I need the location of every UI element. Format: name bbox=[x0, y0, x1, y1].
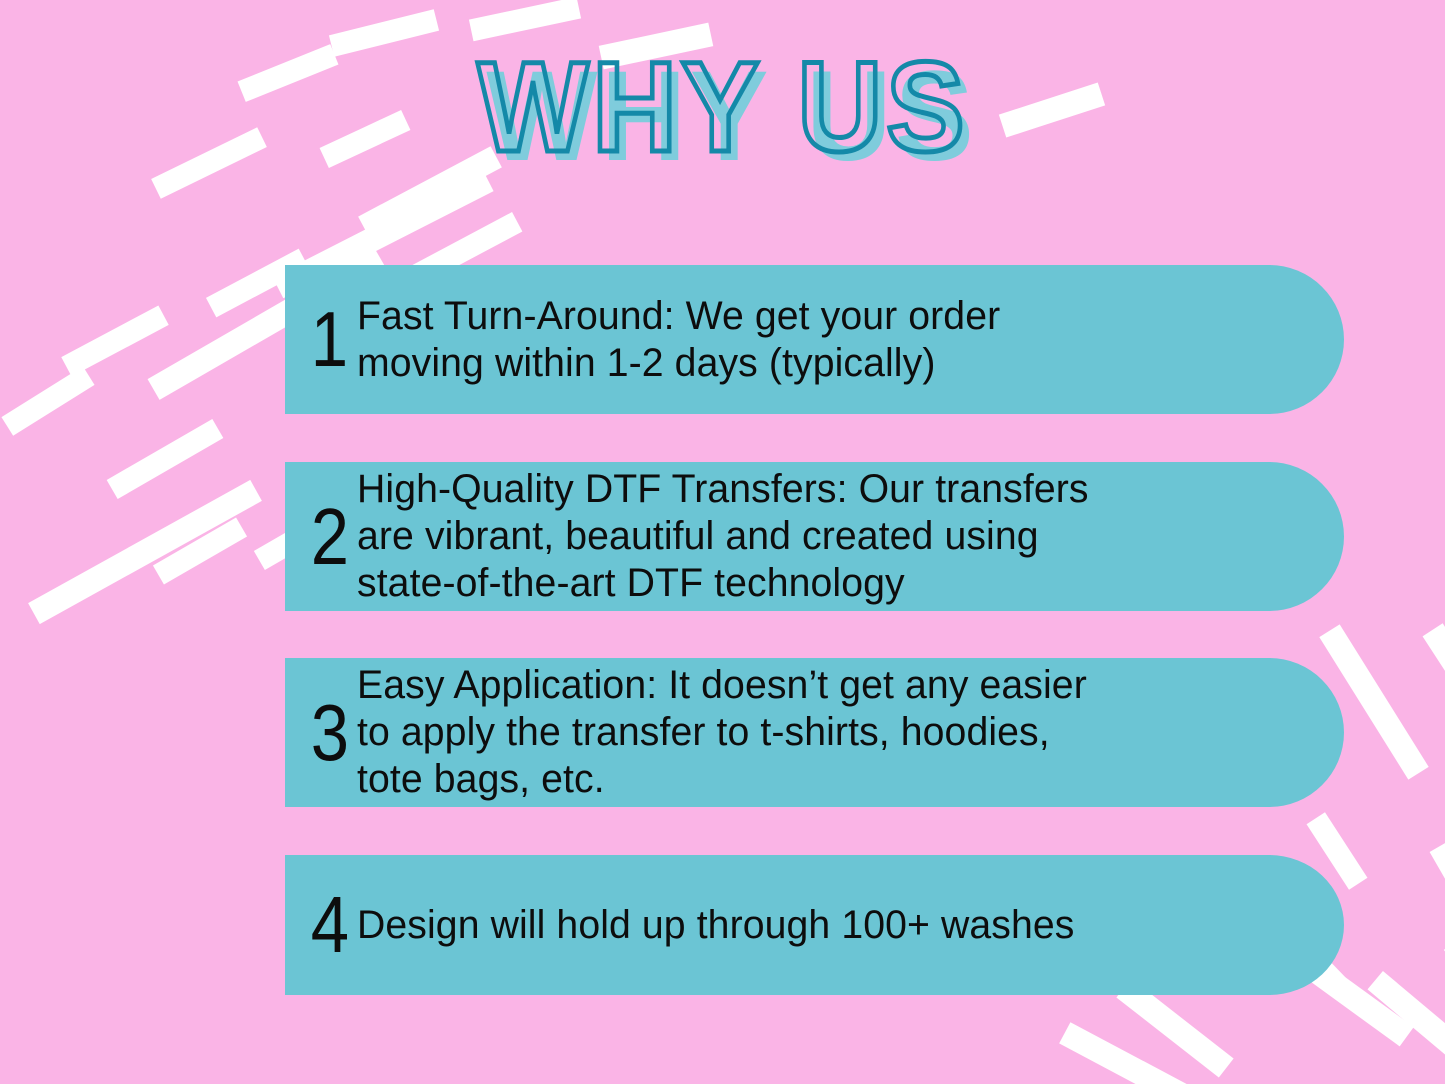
benefit-item-rounded-cap bbox=[1194, 462, 1344, 611]
page-title: WHY US bbox=[477, 44, 968, 172]
benefit-item-rounded-cap bbox=[1194, 265, 1344, 414]
benefit-item-2: 2High-Quality DTF Transfers: Our transfe… bbox=[285, 462, 1245, 611]
benefit-item-number: 1 bbox=[285, 304, 347, 374]
benefit-item-number: 3 bbox=[285, 697, 347, 769]
benefit-item-rounded-cap bbox=[1194, 855, 1344, 995]
benefit-item-text: High-Quality DTF Transfers: Our transfer… bbox=[357, 466, 1112, 606]
title-stack: WHY US WHY US bbox=[456, 44, 990, 172]
benefit-item-text: Design will hold up through 100+ washes bbox=[357, 902, 1098, 949]
benefit-item-text: Fast Turn-Around: We get your order movi… bbox=[357, 293, 1024, 387]
benefit-item-4: 4Design will hold up through 100+ washes bbox=[285, 855, 1245, 995]
benefit-item-rounded-cap bbox=[1194, 658, 1344, 807]
benefit-item-text: Easy Application: It doesn’t get any eas… bbox=[357, 662, 1110, 802]
benefit-item-3: 3Easy Application: It doesn’t get any ea… bbox=[285, 658, 1245, 807]
benefit-item-1: 1Fast Turn-Around: We get your order mov… bbox=[285, 265, 1245, 414]
benefit-item-number: 2 bbox=[285, 501, 347, 573]
why-us-poster: WHY US WHY US 1Fast Turn-Around: We get … bbox=[0, 0, 1445, 1084]
benefit-item-number: 4 bbox=[285, 889, 347, 961]
